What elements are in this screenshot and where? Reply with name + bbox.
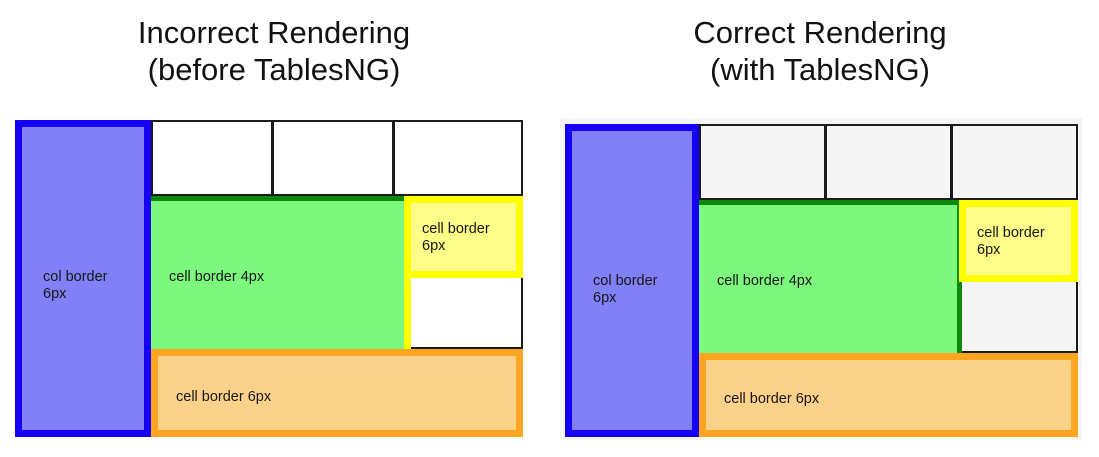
panel-title-incorrect: Incorrect Rendering (before TablesNG)	[14, 14, 534, 88]
cell-yellow-6px: cell border 6px	[959, 200, 1078, 282]
column-blue-6px: col border 6px	[15, 120, 151, 437]
panel-title-correct-line1: Correct Rendering	[693, 15, 946, 50]
cell-orange-label: cell border 6px	[724, 391, 819, 408]
panel-title-correct: Correct Rendering (with TablesNG)	[560, 14, 1080, 88]
cell-yellow-6px: cell border 6px	[404, 196, 523, 278]
panel-title-incorrect-line2: (before TablesNG)	[14, 51, 534, 88]
cell-yellow-label: cell border 6px	[977, 225, 1045, 259]
column-blue-label: col border 6px	[43, 269, 107, 303]
cell-yellow-label: cell border 6px	[422, 221, 490, 255]
table-incorrect-rendering: cell border 4px cell border 6px cell bor…	[15, 118, 524, 440]
header-cell-2	[825, 124, 952, 200]
header-cell-1	[699, 124, 826, 200]
header-cell-1	[151, 120, 273, 196]
panel-title-incorrect-line1: Incorrect Rendering	[138, 15, 410, 50]
cell-green-label: cell border 4px	[169, 269, 264, 286]
cell-green-4px: cell border 4px	[151, 196, 410, 349]
diagram-canvas: Incorrect Rendering (before TablesNG) Co…	[0, 0, 1099, 457]
column-blue-6px: col border 6px	[565, 124, 699, 437]
header-cell-3	[393, 120, 523, 196]
cell-orange-label: cell border 6px	[176, 389, 271, 406]
cell-orange-6px: cell border 6px	[151, 349, 523, 437]
cell-green-4px: cell border 4px	[699, 200, 962, 353]
cell-orange-6px: cell border 6px	[699, 353, 1078, 437]
panel-title-correct-line2: (with TablesNG)	[560, 51, 1080, 88]
column-blue-label: col border 6px	[593, 273, 657, 307]
cell-green-label: cell border 4px	[717, 273, 812, 290]
header-cell-3	[951, 124, 1078, 200]
table-correct-rendering: cell border 4px cell border 6px col bord…	[560, 118, 1082, 440]
header-cell-2	[272, 120, 394, 196]
